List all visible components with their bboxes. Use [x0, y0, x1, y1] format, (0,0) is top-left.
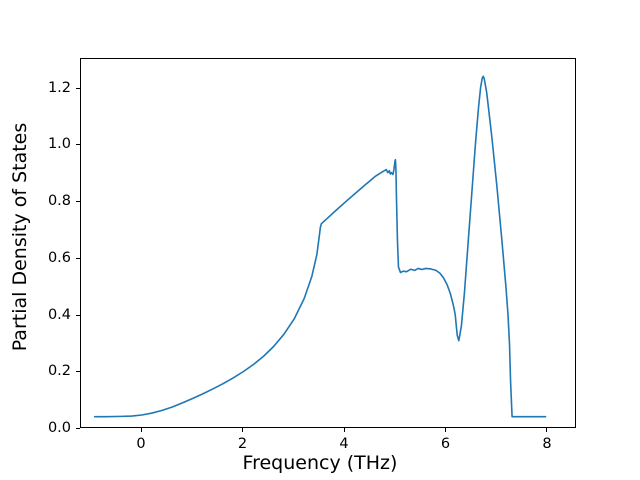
x-axis-label: Frequency (THz) — [0, 452, 640, 474]
xtick-mark-1 — [242, 428, 243, 432]
ytick-mark-1 — [76, 371, 80, 372]
xtick-label-4: 8 — [542, 437, 551, 452]
y-axis-label-wrapper: Partial Density of States — [0, 0, 30, 480]
xtick-mark-3 — [445, 428, 446, 432]
xtick-label-0: 0 — [136, 437, 145, 452]
ytick-label-4: 0.8 — [40, 194, 71, 209]
ytick-mark-6 — [76, 88, 80, 89]
y-axis-label: Partial Density of States — [9, 17, 31, 457]
xtick-mark-0 — [141, 428, 142, 432]
ytick-mark-5 — [76, 144, 80, 145]
ytick-label-3: 0.6 — [40, 251, 71, 266]
ytick-mark-4 — [76, 201, 80, 202]
chart-figure: 0.0 0.2 0.4 0.6 0.8 1.0 1.2 0 2 4 6 8 Fr… — [0, 0, 640, 480]
ytick-mark-0 — [76, 428, 80, 429]
ytick-mark-3 — [76, 258, 80, 259]
ytick-label-5: 1.0 — [40, 137, 71, 152]
ytick-label-2: 0.4 — [40, 307, 71, 322]
dos-line-plot — [81, 59, 577, 429]
xtick-label-2: 4 — [339, 437, 348, 452]
ytick-label-1: 0.2 — [40, 364, 71, 379]
plot-axes — [80, 58, 576, 428]
xtick-mark-2 — [344, 428, 345, 432]
xtick-label-1: 2 — [238, 437, 247, 452]
series-partial-dos — [95, 76, 546, 416]
xtick-label-3: 6 — [441, 437, 450, 452]
ytick-label-0: 0.0 — [40, 421, 71, 436]
ytick-label-6: 1.2 — [40, 80, 71, 95]
xtick-mark-4 — [546, 428, 547, 432]
ytick-mark-2 — [76, 315, 80, 316]
